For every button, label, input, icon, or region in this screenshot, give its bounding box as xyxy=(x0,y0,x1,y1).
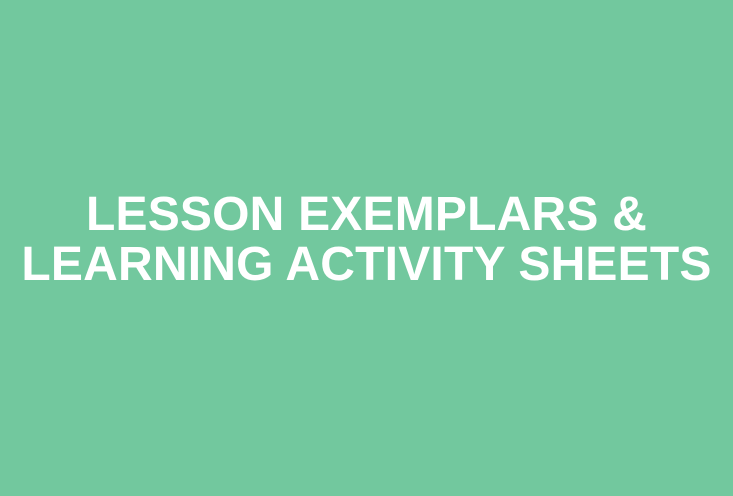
page-title: LESSON EXEMPLARS & LEARNING ACTIVITY SHE… xyxy=(0,190,733,290)
page-title-line-1: LESSON EXEMPLARS & xyxy=(18,190,715,240)
page-title-line-2: LEARNING ACTIVITY SHEETS xyxy=(18,240,715,290)
banner-card: LESSON EXEMPLARS & LEARNING ACTIVITY SHE… xyxy=(0,0,733,496)
